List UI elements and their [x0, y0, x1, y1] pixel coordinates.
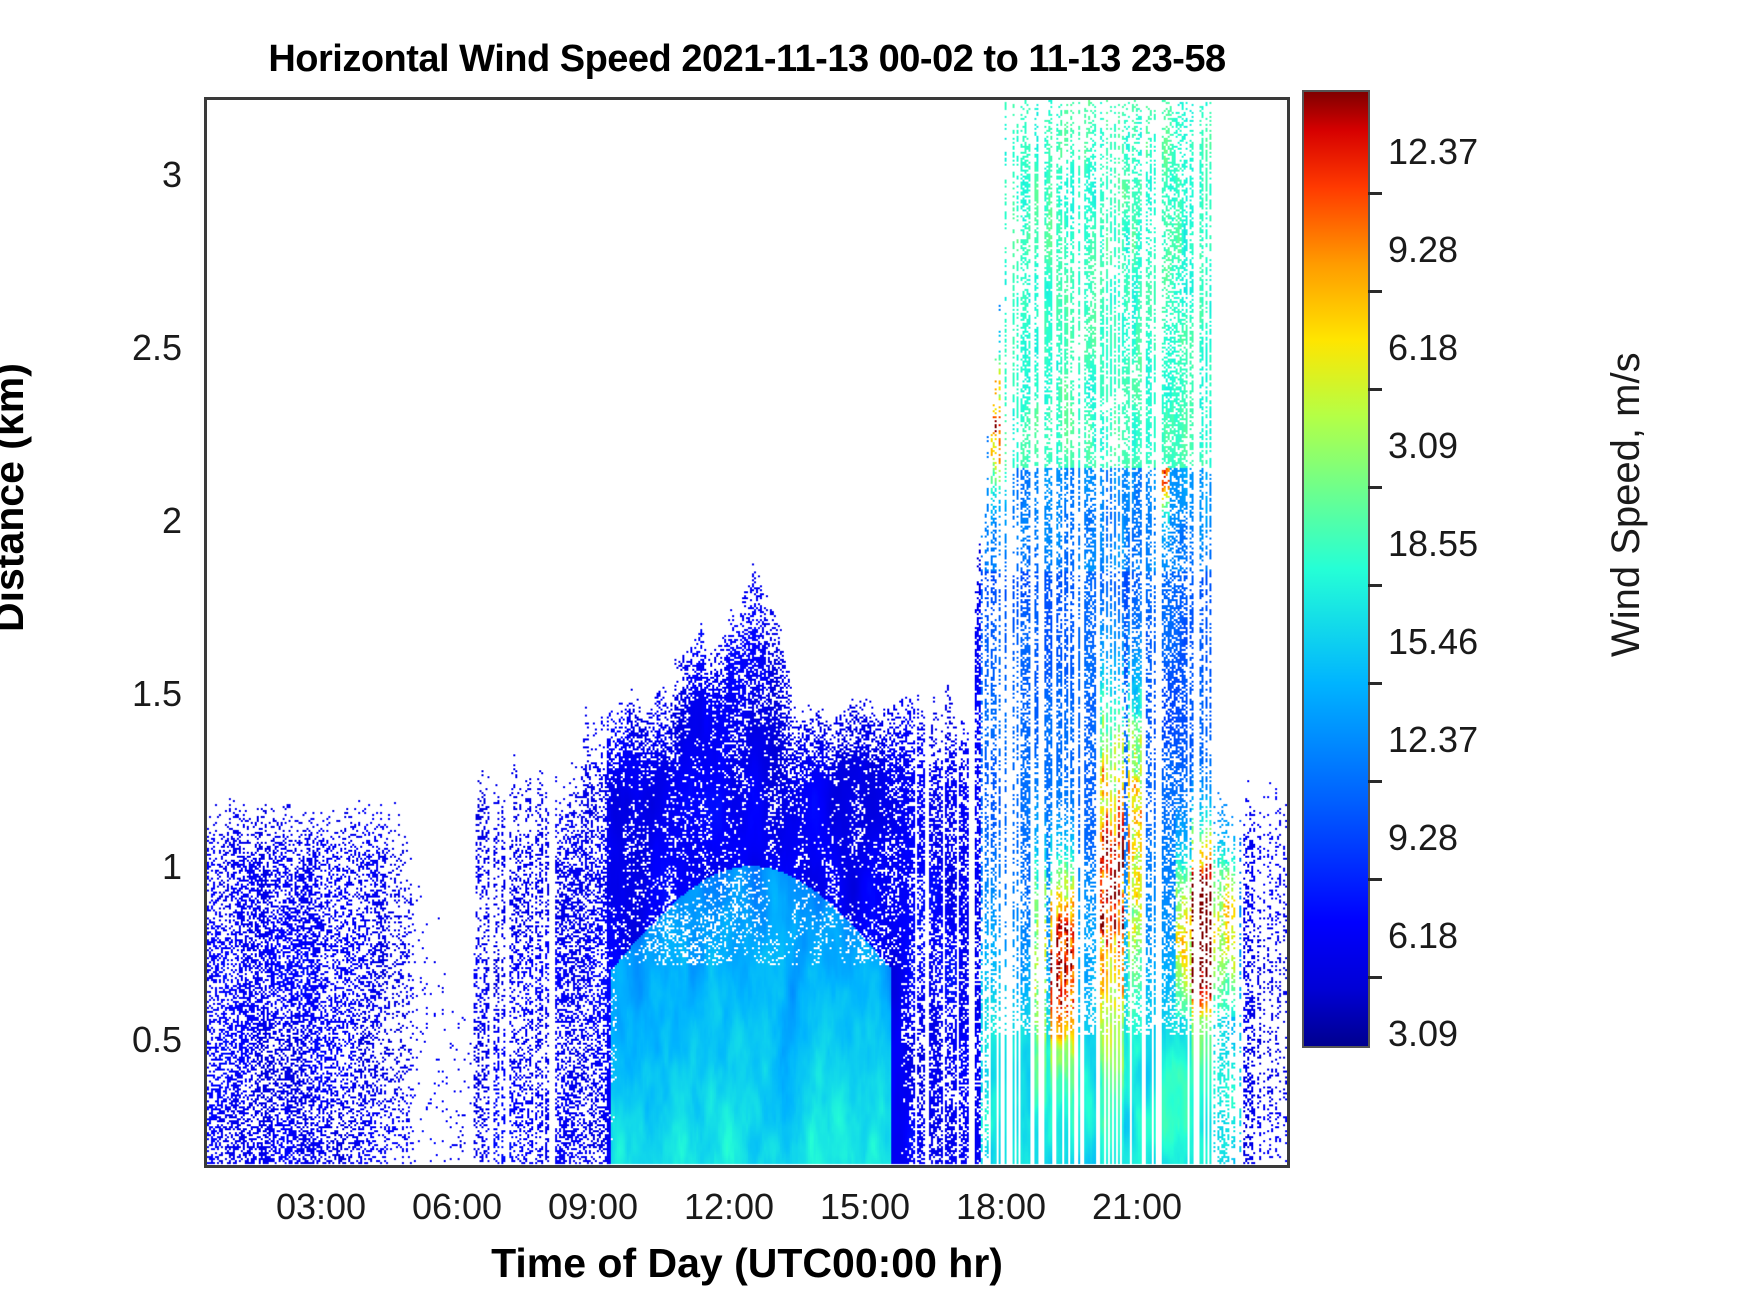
colorbar-tick-label: 12.37 — [1388, 719, 1478, 761]
x-tick-label: 06:00 — [412, 1186, 502, 1228]
colorbar-tick — [1368, 780, 1382, 783]
colorbar-tick-label: 9.28 — [1388, 817, 1458, 859]
x-tick — [1140, 1165, 1143, 1168]
colorbar-title: Wind Speed, m/s — [1604, 352, 1649, 657]
y-tick — [204, 697, 207, 700]
y-tick — [204, 524, 207, 527]
y-tick-label: 2.5 — [132, 327, 182, 369]
y-tick-right — [1287, 1043, 1290, 1046]
heatmap-canvas — [207, 100, 1287, 1165]
colorbar-tick-label: 18.55 — [1388, 523, 1478, 565]
colorbar-tick-label: 6.18 — [1388, 327, 1458, 369]
colorbar-tick — [1368, 192, 1382, 195]
colorbar-tick — [1368, 976, 1382, 979]
x-tick-label: 12:00 — [684, 1186, 774, 1228]
y-tick-right — [1287, 351, 1290, 354]
y-tick — [204, 351, 207, 354]
colorbar-tick — [1368, 584, 1382, 587]
x-tick-label: 09:00 — [548, 1186, 638, 1228]
figure-root: Horizontal Wind Speed 2021-11-13 00-02 t… — [0, 0, 1750, 1313]
y-tick-label: 1.5 — [132, 673, 182, 715]
colorbar-tick-label: 3.09 — [1388, 1013, 1458, 1055]
y-tick-right — [1287, 524, 1290, 527]
x-tick — [1004, 1165, 1007, 1168]
colorbar-gradient — [1304, 92, 1368, 1046]
x-tick-label: 03:00 — [276, 1186, 366, 1228]
colorbar-tick-label: 12.37 — [1388, 131, 1478, 173]
y-tick-label: 2 — [162, 500, 182, 542]
y-tick-right — [1287, 697, 1290, 700]
y-tick-right — [1287, 178, 1290, 181]
colorbar-tick — [1368, 878, 1382, 881]
colorbar-tick-label: 15.46 — [1388, 621, 1478, 663]
plot-axes — [204, 97, 1290, 1168]
colorbar-tick — [1368, 290, 1382, 293]
x-tick-label: 21:00 — [1092, 1186, 1182, 1228]
x-tick-label: 18:00 — [956, 1186, 1046, 1228]
x-tick — [324, 1165, 327, 1168]
colorbar-tick — [1368, 486, 1382, 489]
page-title: Horizontal Wind Speed 2021-11-13 00-02 t… — [204, 38, 1290, 81]
y-tick-label: 1 — [162, 846, 182, 888]
y-tick-label: 3 — [162, 154, 182, 196]
colorbar-tick-label: 3.09 — [1388, 425, 1458, 467]
x-tick — [732, 1165, 735, 1168]
colorbar-tick-label: 9.28 — [1388, 229, 1458, 271]
x-tick-label: 15:00 — [820, 1186, 910, 1228]
y-tick-label: 0.5 — [132, 1019, 182, 1061]
y-tick — [204, 178, 207, 181]
y-tick — [204, 870, 207, 873]
y-axis-label: Distance (km) — [0, 363, 33, 632]
y-tick-right — [1287, 870, 1290, 873]
x-tick — [868, 1165, 871, 1168]
colorbar-tick — [1368, 682, 1382, 685]
x-axis-label: Time of Day (UTC00:00 hr) — [204, 1240, 1290, 1287]
x-tick — [460, 1165, 463, 1168]
x-tick — [596, 1165, 599, 1168]
colorbar-tick-label: 6.18 — [1388, 915, 1458, 957]
colorbar-tick — [1368, 388, 1382, 391]
y-tick — [204, 1043, 207, 1046]
colorbar — [1302, 90, 1370, 1048]
